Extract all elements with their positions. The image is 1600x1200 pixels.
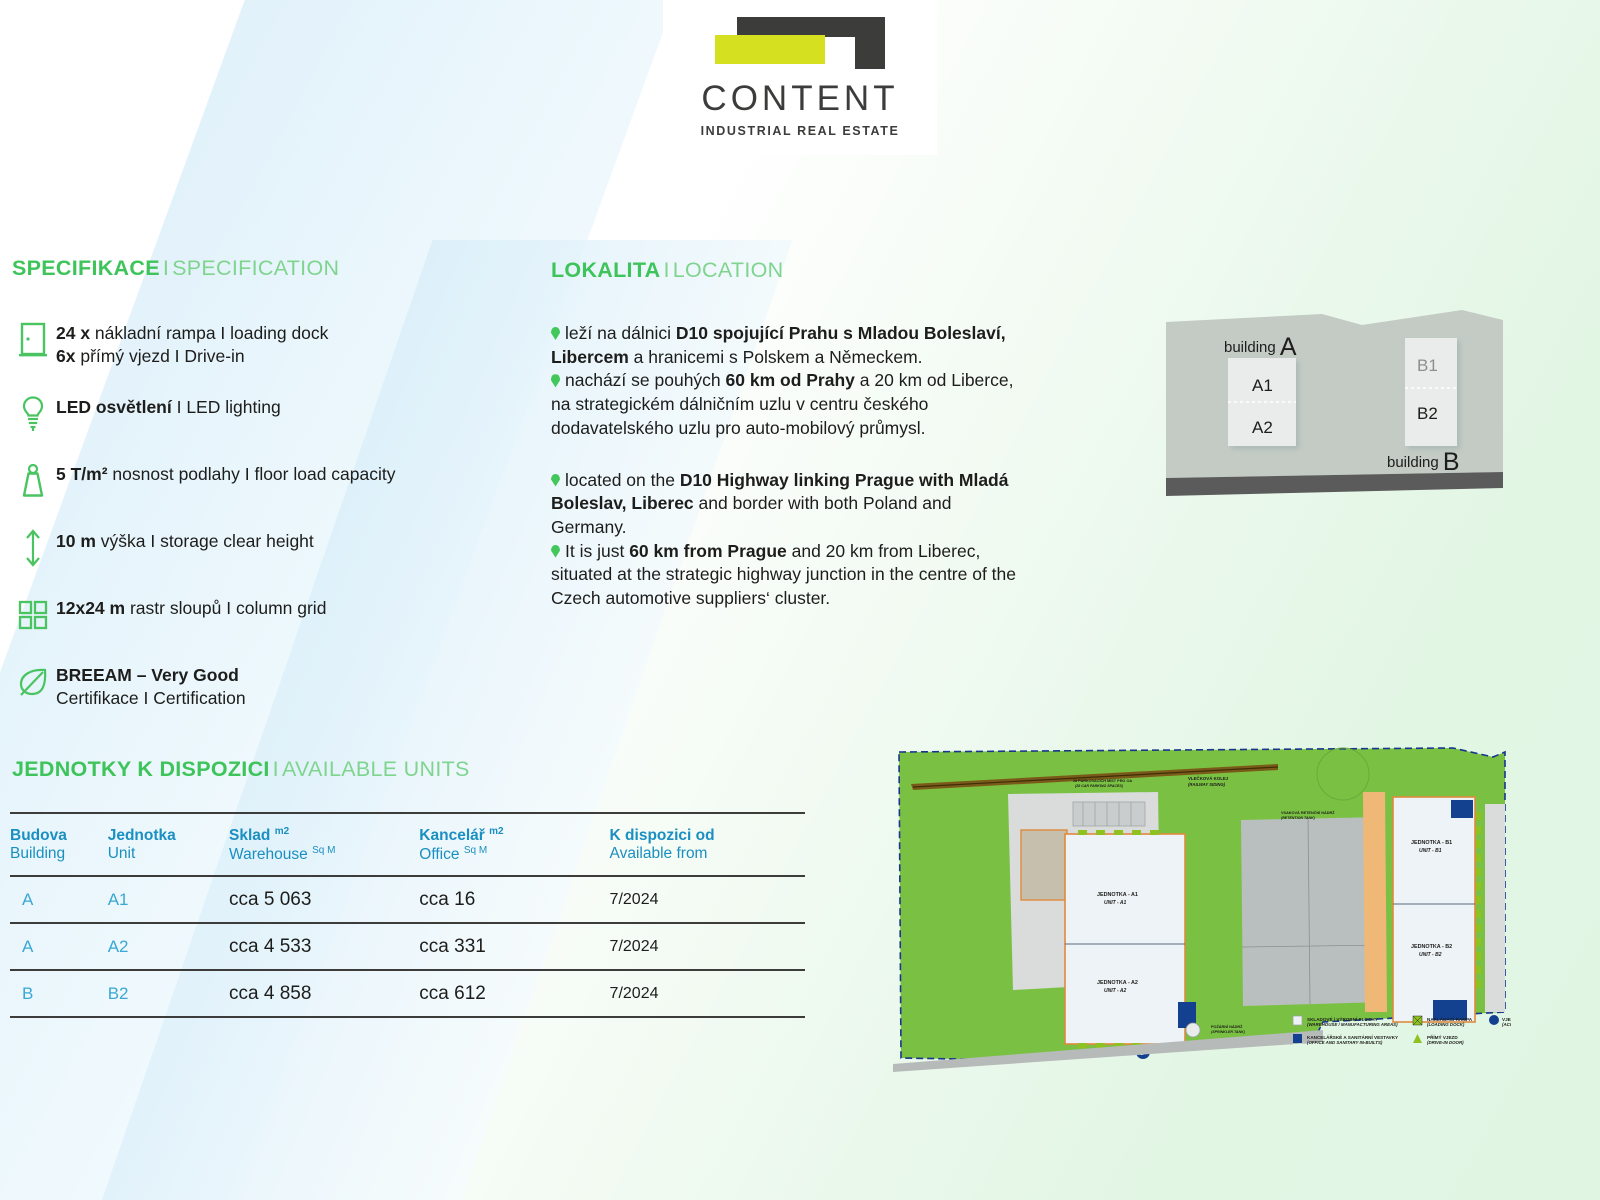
vertical-arrow-height-icon [10,526,56,570]
access-gate-swatch [1489,1015,1499,1025]
sprinkler-label-en: (SPRINKLER TANK) [1211,1030,1246,1034]
row-0-warehouse: cca 5 063 [229,876,419,923]
siteplan-unit-b1-en: UNIT - B1 [1419,848,1442,854]
col-office-en: Office Sq M [419,845,609,864]
building-b-label-text: building [1387,454,1439,471]
row-2-unit: B2 [108,970,229,1017]
specification-heading-en: SPECIFICATION [172,256,339,280]
building-b-shape [1405,338,1457,446]
location-body: leží na dálnici D10 spojující Prahu s Ml… [551,322,1021,611]
legend-4-en: (ACCESS GATE) [1502,1022,1511,1027]
loc-cz2-t1: nachází se pouhých [565,370,726,390]
specification-heading: SPECIFIKACEISPECIFICATION [12,256,339,281]
access-road-right [1363,792,1387,1012]
legend-0-en: (WAREHOUSE / MANUFACTURING AREAS) [1307,1022,1398,1027]
brochure-page: CONTENT INDUSTRIAL REAL ESTATE SPECIFIKA… [0,0,1600,1200]
spec-5-line1-bold: BREEAM – Very Good [56,665,239,685]
units-table-body: A A1 cca 5 063 cca 16 7/2024 A A2 cca 4 … [10,876,805,1017]
row-2-warehouse: cca 4 858 [229,970,419,1017]
floor-load-weight-icon [10,459,56,503]
spec-2-line1-bold: 5 T/m² [56,464,108,484]
spec-item-floor-load: 5 T/m² nosnost podlahy I floor load capa… [10,459,530,503]
row-2-building: B [10,970,108,1017]
siteplan-unit-b1-cz: JEDNOTKA - B1 [1411,840,1452,846]
col-building-cz: Budova [10,827,108,845]
column-grid-icon [10,593,56,637]
spec-item-loading-dock-text: 24 x nákladní rampa I loading dock 6x př… [56,318,328,369]
legend-1-en: (OFFICE AND SANITARY IN-BUILTS) [1307,1040,1383,1045]
parking-label-cz: 28 PARKOVACÍCH MÍST PRO OA [1073,778,1132,783]
legend-0-cz: SKLADOVÉ / VÝROBNÍ PLOCHY [1307,1015,1378,1022]
warehouse-swatch [1293,1016,1302,1025]
col-warehouse-en: Warehouse Sq M [229,845,419,864]
logo-green-bar [715,35,825,64]
loc-en2-t1: It is just [565,541,629,561]
units-heading-en: AVAILABLE UNITS [282,757,470,781]
spec-4-line1-bold: 12x24 m [56,598,125,618]
legend-2-en: (LOADING DOCK) [1427,1022,1465,1027]
siteplan-unit-b2-cz: JEDNOTKA - B2 [1411,944,1452,950]
location-paragraph-gap [551,441,1021,469]
location-bullet-cz-1: leží na dálnici D10 spojující Prahu s Ml… [551,322,1021,369]
spec-3-line1-rest: výška I storage clear height [96,531,314,551]
spec-item-breeam: BREEAM – Very Good Certifikace I Certifi… [10,660,530,711]
drive-in-swatch [1413,1034,1422,1043]
map-pin-icon [551,374,560,387]
loc-en2-b1: 60 km from Prague [629,541,787,561]
row-2-office: cca 612 [419,970,609,1017]
central-grey-area [1241,817,1385,1006]
retention-label-cz: VSAKOVÁ RETENČNÍ NÁDRŽ [1281,810,1335,815]
railway-label-en: (RAILWAY SIDING) [1188,782,1226,787]
spec-1-line1-rest: I LED lighting [172,397,281,417]
column-header-office: Kancelář m2 Office Sq M [419,813,609,876]
legend-1-cz: KANCELÁŘSKÉ A SANITÁRNÍ VESTAVKY [1307,1033,1398,1040]
spec-1-line1-bold: LED osvětlení [56,397,172,417]
spec-item-column-grid-text: 12x24 m rastr sloupů I column grid [56,593,326,620]
building-a-label: building A [1224,333,1297,362]
building-b-footprint [1393,797,1475,1022]
logo-wordmark: CONTENT [701,79,898,119]
unit-a1-label: A1 [1252,376,1273,396]
building-b-label: building B [1387,448,1460,477]
location-heading-en: LOCATION [673,258,784,282]
legend-2-cz: NAKLÁDACÍ RAMPA [1427,1015,1473,1022]
loading-dock-door-icon [10,318,56,362]
col-warehouse-cz-sup: m2 [275,826,289,837]
spec-item-column-grid: 12x24 m rastr sloupů I column grid [10,593,530,637]
location-bullet-en-2: It is just 60 km from Prague and 20 km f… [551,540,1021,611]
table-row: B B2 cca 4 858 cca 612 7/2024 [10,970,805,1017]
column-header-warehouse: Sklad m2 Warehouse Sq M [229,813,419,876]
location-heading-separator: I [660,258,672,282]
office-inbuilt-a [1021,830,1067,900]
legend-3-en: (DRIVE-IN DOOR) [1427,1040,1464,1045]
column-header-building: Budova Building [10,813,108,876]
building-b-letter: B [1443,448,1460,476]
parking-label-en: (28 CAR PARKING SPACES) [1075,784,1124,788]
building-a-label-text: building [1224,339,1276,356]
location-bullet-en-1: located on the D10 Highway linking Pragu… [551,469,1021,540]
siteplan-unit-b2-en: UNIT - B2 [1419,952,1442,958]
units-heading-separator: I [270,757,282,781]
railway-label-cz: VLEČKOVÁ KOLEJ [1188,776,1229,781]
spec-item-led-lighting: LED osvětlení I LED lighting [10,392,530,436]
sprinkler-label-cz: POŽÁRNÍ NÁDRŽ [1211,1024,1243,1029]
map-pin-icon [551,545,560,558]
available-units-heading: JEDNOTKY K DISPOZICIIAVAILABLE UNITS [12,757,470,782]
retention-label-en: (RETENTION TANK) [1281,816,1316,820]
building-a-footprint [1065,834,1185,1044]
siteplan-unit-a2-cz: JEDNOTKA - A2 [1097,980,1138,986]
siteplan-unit-a2-en: UNIT - A2 [1104,988,1127,994]
row-1-unit: A2 [108,923,229,970]
spec-2-line1-rest: nosnost podlahy I floor load capacity [108,464,396,484]
loc-en1-t1: located on the [565,470,680,490]
office-inbuilt-b1 [1451,800,1473,818]
col-office-cz-text: Kancelář [419,827,484,844]
company-logo: CONTENT INDUSTRIAL REAL ESTATE [663,0,937,155]
spec-5-line2-rest: Certifikace I Certification [56,688,246,708]
spec-item-loading-dock: 24 x nákladní rampa I loading dock 6x př… [10,318,530,369]
logo-tagline: INDUSTRIAL REAL ESTATE [701,124,900,138]
row-2-available: 7/2024 [610,970,805,1017]
row-1-office: cca 331 [419,923,609,970]
loc-cz1-t2: a hranicemi s Polskem a Německem. [629,347,923,367]
col-office-cz-sup: m2 [489,826,503,837]
col-office-cz: Kancelář m2 [419,826,609,845]
col-warehouse-cz: Sklad m2 [229,826,419,845]
lightbulb-icon [10,392,56,436]
spec-0-line1-bold: 24 x [56,323,90,343]
building-a-letter: A [1280,333,1297,361]
spec-3-line1-bold: 10 m [56,531,96,551]
column-header-unit: Jednotka Unit [108,813,229,876]
logo-dark-right-bar [855,17,885,69]
col-unit-cz: Jednotka [108,827,229,845]
available-units-table: Budova Building Jednotka Unit Sklad m2 W… [10,812,805,1018]
table-row: A A1 cca 5 063 cca 16 7/2024 [10,876,805,923]
specification-list: 24 x nákladní rampa I loading dock 6x př… [10,318,530,734]
units-table-header-row: Budova Building Jednotka Unit Sklad m2 W… [10,813,805,876]
col-available-cz: K dispozici od [610,827,805,845]
legend-3-cz: PŘÍMÝ VJEZD [1427,1033,1458,1040]
column-header-available: K dispozici od Available from [610,813,805,876]
row-0-available: 7/2024 [610,876,805,923]
office-swatch [1293,1034,1302,1043]
spec-item-floor-load-text: 5 T/m² nosnost podlahy I floor load capa… [56,459,396,486]
spec-item-led-lighting-text: LED osvětlení I LED lighting [56,392,281,419]
spec-0-line2-bold: 6x [56,346,75,366]
row-1-warehouse: cca 4 533 [229,923,419,970]
spec-4-line1-rest: rastr sloupů I column grid [125,598,326,618]
col-warehouse-cz-text: Sklad [229,827,270,844]
specification-heading-separator: I [160,256,172,280]
leaf-certification-icon [10,660,56,704]
units-heading-cz: JEDNOTKY K DISPOZICI [12,757,270,781]
unit-b1-label: B1 [1417,356,1438,376]
location-bullet-cz-2: nachází se pouhých 60 km od Prahy a 20 k… [551,369,1021,440]
spec-0-line2-rest: přímý vjezd I Drive-in [75,346,244,366]
table-row: A A2 cca 4 533 cca 331 7/2024 [10,923,805,970]
unit-b2-label: B2 [1417,404,1438,424]
map-pin-icon [551,474,560,487]
row-0-office: cca 16 [419,876,609,923]
spec-item-breeam-text: BREEAM – Very Good Certifikace I Certifi… [56,660,246,711]
loc-cz2-b1: 60 km od Prahy [726,370,855,390]
units-table-header: Budova Building Jednotka Unit Sklad m2 W… [10,813,805,876]
location-heading-cz: LOKALITA [551,258,660,282]
row-0-unit: A1 [108,876,229,923]
site-plan-map: VLEČKOVÁ KOLEJ (RAILWAY SIDING) 28 PARKO… [893,712,1511,1072]
siteplan-unit-a1-cz: JEDNOTKA - A1 [1097,892,1138,898]
buildings-diagram: building A A1 A2 B1 B2 building B [1162,300,1507,505]
spec-0-line1-rest: nákladní rampa I loading dock [90,323,328,343]
col-unit-en: Unit [108,845,229,863]
col-office-en-sup: Sq M [464,845,487,856]
location-heading: LOKALITAILOCATION [551,258,783,283]
spec-item-clear-height-text: 10 m výška I storage clear height [56,526,314,553]
row-1-building: A [10,923,108,970]
col-building-en: Building [10,845,108,863]
spec-item-clear-height: 10 m výška I storage clear height [10,526,530,570]
paved-yard-right [1485,804,1505,1012]
row-1-available: 7/2024 [610,923,805,970]
loc-cz1-t1: leží na dálnici [565,323,676,343]
specification-heading-cz: SPECIFIKACE [12,256,160,280]
parking-stripes-top [1073,802,1145,826]
sprinkler-tank [1186,1023,1200,1037]
col-available-en: Available from [610,845,805,863]
row-0-building: A [10,876,108,923]
col-warehouse-en-text: Warehouse [229,846,308,863]
unit-a2-label: A2 [1252,418,1273,438]
col-warehouse-en-sup: Sq M [312,845,335,856]
col-office-en-text: Office [419,846,459,863]
siteplan-unit-a1-en: UNIT - A1 [1104,900,1127,906]
map-pin-icon [551,327,560,340]
logo-mark-icon [715,17,885,77]
